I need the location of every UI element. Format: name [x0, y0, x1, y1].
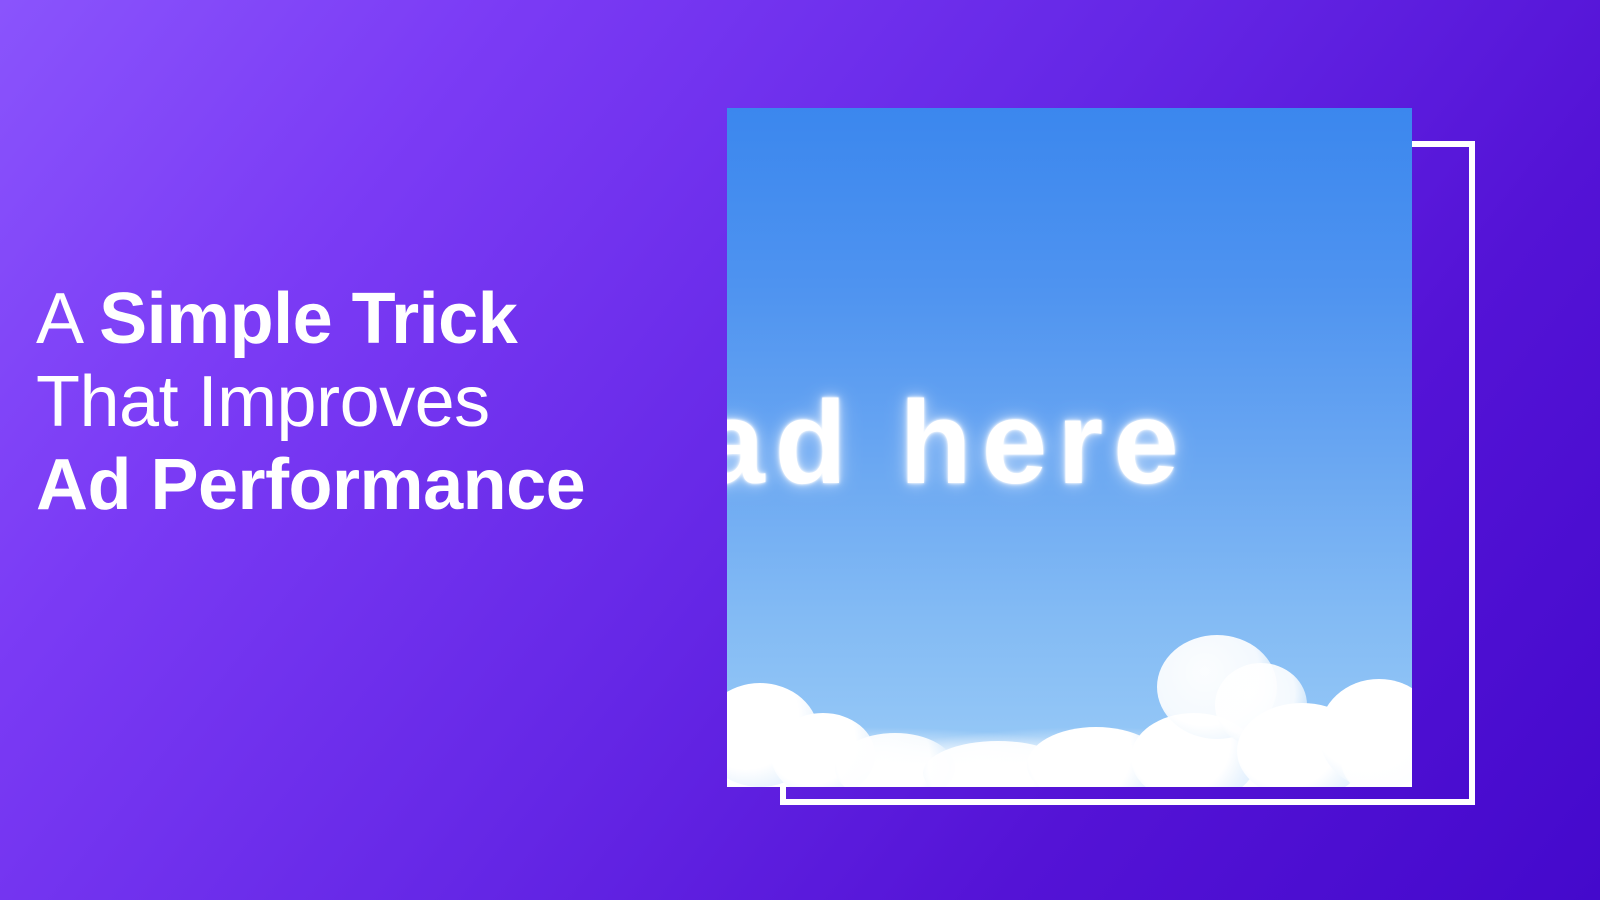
cloud-bank	[727, 617, 1412, 787]
headline-line-1-light: A	[36, 279, 99, 359]
page-title: A Simple Trick That Improves Ad Performa…	[36, 278, 736, 527]
headline-line-1-bold: Simple Trick	[99, 279, 517, 359]
hero-image: ad here	[727, 108, 1412, 787]
headline-line-2: That Improves	[36, 361, 736, 444]
headline-line-3: Ad Performance	[36, 444, 736, 527]
cloud-text: ad here	[727, 384, 1189, 502]
headline-line-1: A Simple Trick	[36, 278, 736, 361]
banner-canvas: A Simple Trick That Improves Ad Performa…	[0, 0, 1600, 900]
